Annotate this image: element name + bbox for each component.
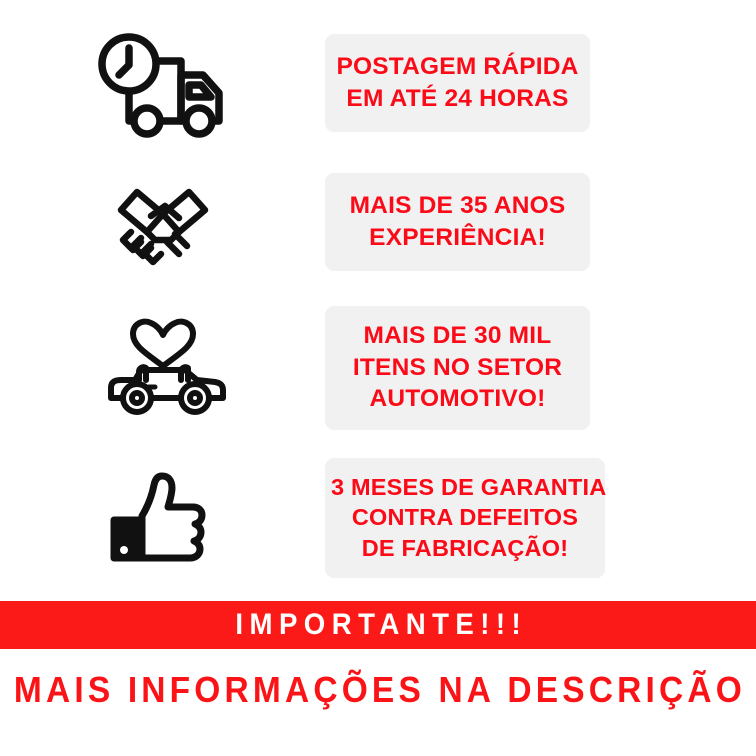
benefit-text-cell: 3 MESES DE GARANTIA CONTRA DEFEITOS DE F… bbox=[325, 458, 756, 579]
benefit-item-catalog: MAIS DE 30 MIL ITENS NO SETOR AUTOMOTIVO… bbox=[0, 292, 756, 444]
benefit-item-experience: MAIS DE 35 ANOS EXPERIÊNCIA! bbox=[0, 152, 756, 292]
benefit-text-catalog: MAIS DE 30 MIL ITENS NO SETOR AUTOMOTIVO… bbox=[325, 306, 590, 431]
promo-banner-page: POSTAGEM RÁPIDA EM ATÉ 24 HORAS bbox=[0, 0, 756, 756]
benefit-line: AUTOMOTIVO! bbox=[335, 383, 580, 415]
benefit-line: EM ATÉ 24 HORAS bbox=[335, 83, 580, 115]
benefit-line: ITENS NO SETOR bbox=[335, 352, 580, 384]
car-heart-icon bbox=[0, 310, 325, 426]
benefit-text-cell: MAIS DE 35 ANOS EXPERIÊNCIA! bbox=[325, 173, 756, 272]
benefit-item-shipping: POSTAGEM RÁPIDA EM ATÉ 24 HORAS bbox=[0, 0, 756, 152]
benefit-line: POSTAGEM RÁPIDA bbox=[335, 51, 580, 83]
benefit-text-warranty: 3 MESES DE GARANTIA CONTRA DEFEITOS DE F… bbox=[325, 458, 605, 579]
important-banner-label: IMPORTANTE!!! bbox=[229, 608, 527, 642]
benefit-item-warranty: 3 MESES DE GARANTIA CONTRA DEFEITOS DE F… bbox=[0, 444, 756, 592]
benefit-line: EXPERIÊNCIA! bbox=[335, 222, 580, 254]
thumbs-up-icon bbox=[0, 464, 325, 572]
delivery-truck-clock-icon bbox=[0, 27, 325, 139]
handshake-icon bbox=[0, 172, 325, 272]
important-banner: IMPORTANTE!!! bbox=[0, 601, 756, 649]
benefit-text-cell: MAIS DE 30 MIL ITENS NO SETOR AUTOMOTIVO… bbox=[325, 306, 756, 431]
benefit-text-cell: POSTAGEM RÁPIDA EM ATÉ 24 HORAS bbox=[325, 34, 756, 133]
footer-callout: MAIS INFORMAÇÕES NA DESCRIÇÃO bbox=[0, 660, 756, 720]
benefit-line: CONTRA DEFEITOS bbox=[331, 502, 599, 533]
benefit-line: DE FABRICAÇÃO! bbox=[331, 533, 599, 564]
benefits-list: POSTAGEM RÁPIDA EM ATÉ 24 HORAS bbox=[0, 0, 756, 592]
footer-callout-label: MAIS INFORMAÇÕES NA DESCRIÇÃO bbox=[10, 669, 746, 711]
benefit-text-shipping: POSTAGEM RÁPIDA EM ATÉ 24 HORAS bbox=[325, 34, 590, 133]
benefit-text-experience: MAIS DE 35 ANOS EXPERIÊNCIA! bbox=[325, 173, 590, 272]
benefit-line: 3 MESES DE GARANTIA bbox=[331, 472, 599, 503]
benefit-line: MAIS DE 35 ANOS bbox=[335, 190, 580, 222]
benefit-line: MAIS DE 30 MIL bbox=[335, 320, 580, 352]
